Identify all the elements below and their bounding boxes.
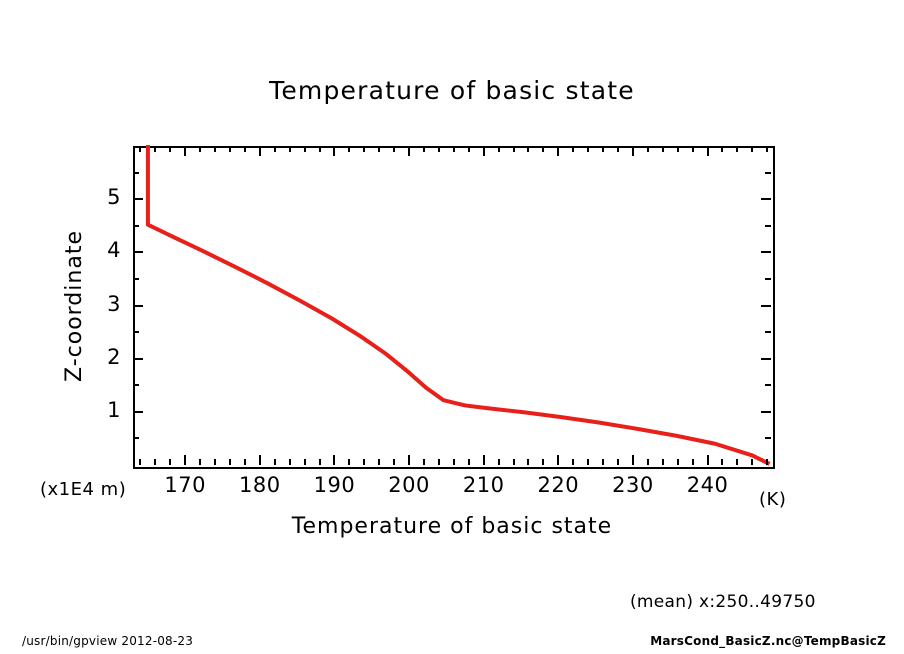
- x-tick-minor-top: [692, 146, 694, 152]
- x-tick-minor: [721, 459, 723, 465]
- x-tick-minor: [677, 459, 679, 465]
- y-tick-label: 1: [81, 398, 121, 422]
- y-tick-major: [133, 251, 143, 253]
- x-tick-minor-top: [139, 146, 141, 152]
- y-tick-minor-right: [765, 172, 771, 174]
- mean-range-annotation: (mean) x:250..49750: [630, 592, 816, 612]
- y-tick-minor: [133, 384, 139, 386]
- x-tick-minor: [498, 459, 500, 465]
- x-tick-major: [259, 455, 261, 465]
- y-tick-minor: [133, 225, 139, 227]
- x-tick-minor: [751, 459, 753, 465]
- x-tick-minor-top: [647, 146, 649, 152]
- x-tick-minor-top: [304, 146, 306, 152]
- x-tick-minor-top: [154, 146, 156, 152]
- x-tick-minor-top: [498, 146, 500, 152]
- x-tick-minor: [169, 459, 171, 465]
- page-title: Temperature of basic state: [0, 76, 904, 105]
- x-tick-minor: [423, 459, 425, 465]
- x-tick-minor: [542, 459, 544, 465]
- y-tick-major: [133, 358, 143, 360]
- x-tick-minor: [393, 459, 395, 465]
- x-tick-minor: [766, 459, 768, 465]
- x-tick-minor: [617, 459, 619, 465]
- x-axis-unit-label: (K): [759, 489, 786, 510]
- x-tick-minor: [692, 459, 694, 465]
- x-tick-minor-top: [199, 146, 201, 152]
- x-tick-minor: [527, 459, 529, 465]
- x-tick-label: 210: [449, 473, 519, 497]
- x-tick-major: [184, 455, 186, 465]
- x-tick-minor: [244, 459, 246, 465]
- footer-datasource: MarsCond_BasicZ.nc@TempBasicZ: [650, 634, 886, 648]
- x-tick-minor-top: [229, 146, 231, 152]
- x-tick-minor: [229, 459, 231, 465]
- x-tick-minor: [363, 459, 365, 465]
- x-tick-major-top: [707, 146, 709, 156]
- x-tick-minor-top: [289, 146, 291, 152]
- y-tick-major: [133, 411, 143, 413]
- x-tick-major-top: [557, 146, 559, 156]
- x-tick-major: [707, 455, 709, 465]
- x-tick-minor-top: [423, 146, 425, 152]
- x-tick-major: [557, 455, 559, 465]
- y-tick-label: 2: [81, 345, 121, 369]
- y-tick-major-right: [761, 305, 771, 307]
- x-tick-major: [632, 455, 634, 465]
- x-tick-major-top: [259, 146, 261, 156]
- x-tick-minor: [348, 459, 350, 465]
- x-tick-label: 230: [598, 473, 668, 497]
- x-tick-minor-top: [319, 146, 321, 152]
- x-tick-minor: [647, 459, 649, 465]
- x-tick-major: [408, 455, 410, 465]
- y-tick-minor-right: [765, 225, 771, 227]
- y-tick-minor: [133, 437, 139, 439]
- y-tick-label: 4: [81, 238, 121, 262]
- y-tick-minor-right: [765, 278, 771, 280]
- x-tick-minor-top: [677, 146, 679, 152]
- x-tick-label: 240: [673, 473, 743, 497]
- x-tick-minor-top: [244, 146, 246, 152]
- line-path-tempbasicz: [148, 145, 770, 464]
- data-series-temperature: [133, 146, 771, 465]
- y-tick-minor-right: [765, 437, 771, 439]
- x-tick-minor: [378, 459, 380, 465]
- x-tick-minor-top: [542, 146, 544, 152]
- x-tick-minor: [438, 459, 440, 465]
- x-tick-minor-top: [468, 146, 470, 152]
- y-tick-minor: [133, 331, 139, 333]
- chart-canvas: Temperature of basic state 1701801902002…: [0, 0, 904, 654]
- x-tick-minor-top: [617, 146, 619, 152]
- x-tick-minor-top: [721, 146, 723, 152]
- x-tick-minor: [319, 459, 321, 465]
- x-tick-major: [483, 455, 485, 465]
- x-tick-minor: [214, 459, 216, 465]
- x-tick-minor-top: [274, 146, 276, 152]
- x-tick-major-top: [632, 146, 634, 156]
- x-tick-minor-top: [527, 146, 529, 152]
- x-tick-major-top: [408, 146, 410, 156]
- x-tick-major-top: [184, 146, 186, 156]
- x-tick-major: [333, 455, 335, 465]
- x-tick-minor-top: [602, 146, 604, 152]
- x-tick-minor-top: [587, 146, 589, 152]
- x-tick-minor-top: [169, 146, 171, 152]
- x-tick-minor-top: [214, 146, 216, 152]
- y-tick-major: [133, 305, 143, 307]
- x-tick-minor: [199, 459, 201, 465]
- x-tick-minor: [572, 459, 574, 465]
- x-tick-minor-top: [363, 146, 365, 152]
- x-tick-label: 180: [225, 473, 295, 497]
- x-tick-minor: [139, 459, 141, 465]
- x-tick-label: 170: [150, 473, 220, 497]
- x-tick-minor: [453, 459, 455, 465]
- x-tick-minor-top: [348, 146, 350, 152]
- y-tick-minor-right: [765, 384, 771, 386]
- plot-area: [133, 146, 771, 465]
- x-tick-minor-top: [736, 146, 738, 152]
- x-tick-label: 190: [299, 473, 369, 497]
- x-tick-minor: [154, 459, 156, 465]
- x-tick-label: 200: [374, 473, 444, 497]
- y-tick-label: 3: [81, 292, 121, 316]
- x-tick-minor-top: [766, 146, 768, 152]
- x-tick-minor-top: [572, 146, 574, 152]
- x-tick-major-top: [483, 146, 485, 156]
- x-tick-minor: [602, 459, 604, 465]
- y-tick-minor-right: [765, 331, 771, 333]
- x-tick-minor-top: [378, 146, 380, 152]
- x-tick-minor-top: [662, 146, 664, 152]
- x-tick-minor: [736, 459, 738, 465]
- x-tick-minor: [289, 459, 291, 465]
- x-tick-minor: [274, 459, 276, 465]
- y-tick-minor: [133, 172, 139, 174]
- y-tick-major-right: [761, 358, 771, 360]
- x-tick-minor: [468, 459, 470, 465]
- x-tick-minor: [513, 459, 515, 465]
- x-tick-minor-top: [453, 146, 455, 152]
- x-tick-minor-top: [751, 146, 753, 152]
- y-tick-major-right: [761, 411, 771, 413]
- x-tick-minor: [587, 459, 589, 465]
- y-tick-major: [133, 198, 143, 200]
- x-tick-minor: [662, 459, 664, 465]
- y-tick-label: 5: [81, 185, 121, 209]
- x-tick-minor-top: [393, 146, 395, 152]
- y-tick-minor: [133, 278, 139, 280]
- x-tick-minor-top: [438, 146, 440, 152]
- y-tick-major-right: [761, 198, 771, 200]
- x-tick-minor: [304, 459, 306, 465]
- x-tick-label: 220: [523, 473, 593, 497]
- x-axis-title: Temperature of basic state: [133, 514, 771, 539]
- y-axis-unit-label: (x1E4 m): [40, 479, 126, 500]
- y-axis-title: Z-coordinate: [62, 196, 87, 416]
- footer-command-date: /usr/bin/gpview 2012-08-23: [22, 634, 193, 648]
- x-tick-major-top: [333, 146, 335, 156]
- y-tick-major-right: [761, 251, 771, 253]
- x-tick-minor-top: [513, 146, 515, 152]
